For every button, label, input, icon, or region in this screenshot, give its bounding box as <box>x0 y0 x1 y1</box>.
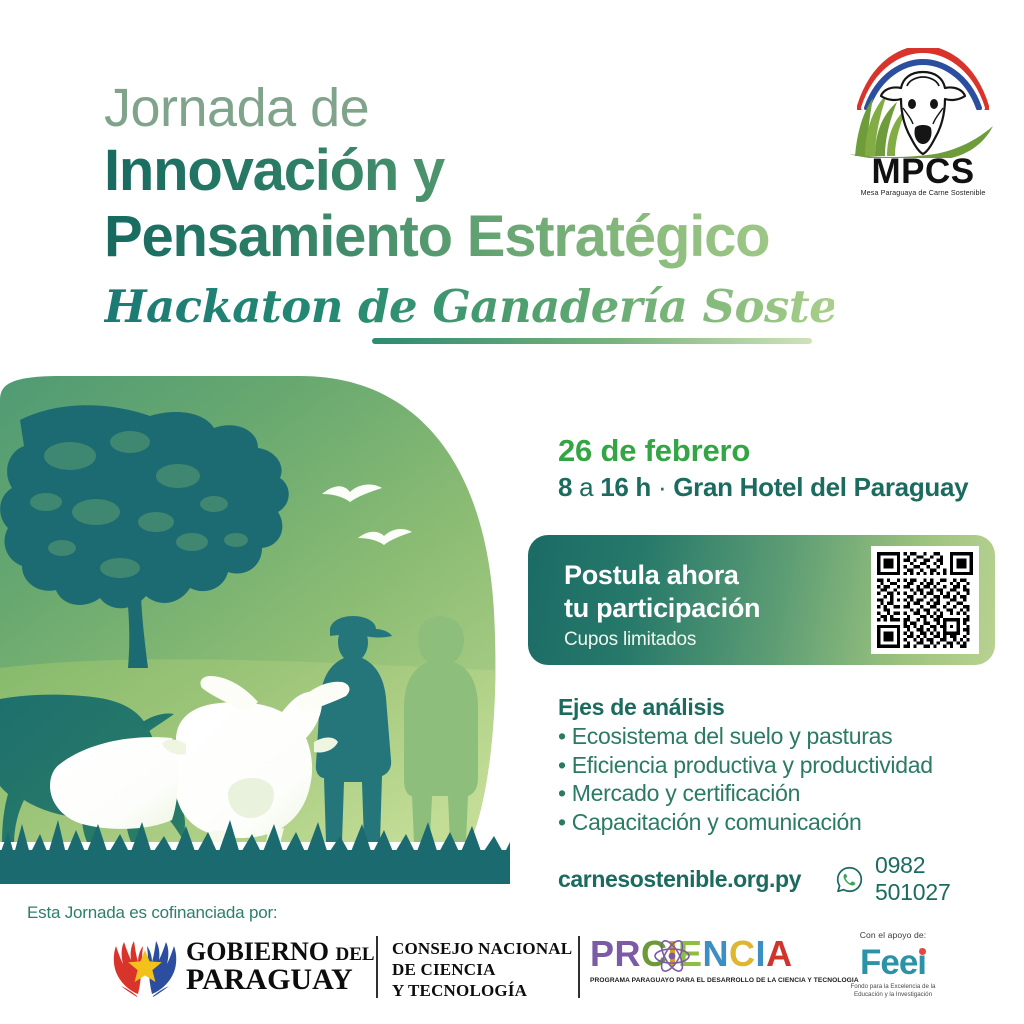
gobierno-paraguay-logo: GOBIERNO DEL PARAGUAY <box>108 934 375 1000</box>
feei-wordmark: Feei <box>838 944 948 982</box>
analysis-axes-list: •Ecosistema del suelo y pasturas •Eficie… <box>558 722 998 836</box>
conacyt-line-1: CONSEJO NACIONAL <box>392 938 572 959</box>
bullet-icon: • <box>558 752 572 778</box>
subtitle-underline <box>372 338 812 344</box>
title-block: Jornada de Innovación y Pensamiento Estr… <box>104 78 834 334</box>
event-separator: · <box>651 472 673 502</box>
contact-row: carnesostenible.org.py 0982 501027 <box>558 852 998 906</box>
cta-title-line-1: Postula ahora <box>564 559 760 592</box>
mpcs-logo: MPCS Mesa Paraguaya de Carne Sostenible <box>843 44 1003 214</box>
feei-logo: Con el apoyo de: Feei Fondo para la Exce… <box>838 930 948 999</box>
mpcs-acronym: MPCS <box>843 152 1003 192</box>
feei-support-label: Con el apoyo de: <box>838 930 948 940</box>
gobierno-main: GOBIERNO <box>186 937 329 966</box>
subtitle-emphasis: Ganadería Sostenible <box>432 280 961 333</box>
conacyt-line-2: DE CIENCIA <box>392 959 572 980</box>
list-item-label: Capacitación y comunicación <box>572 809 862 835</box>
qr-code[interactable] <box>871 546 979 654</box>
event-time-mid: a <box>572 472 600 502</box>
title-line-1: Innovación y <box>104 138 834 204</box>
gobierno-line-2: PARAGUAY <box>186 965 375 995</box>
event-time-end: 16 h <box>600 472 651 502</box>
paraguay-coat-of-arms-icon <box>108 934 182 1000</box>
conacyt-line-3: Y TECNOLOGÍA <box>392 980 572 1001</box>
list-item-label: Mercado y certificación <box>572 780 800 806</box>
list-item-label: Eficiencia productiva y productividad <box>572 752 933 778</box>
apply-cta-banner[interactable]: Postula ahora tu participación Cupos lim… <box>528 535 995 665</box>
gobierno-del: DEL <box>336 944 375 965</box>
subtitle-script: Hackaton de Ganadería Sostenible <box>104 280 834 334</box>
mpcs-tagline: Mesa Paraguaya de Carne Sostenible <box>843 188 1003 197</box>
analysis-axes-section: Ejes de análisis •Ecosistema del suelo y… <box>558 692 998 836</box>
title-kicker: Jornada de <box>104 78 834 138</box>
gobierno-line-1: GOBIERNO DEL <box>186 939 375 965</box>
bullet-icon: • <box>558 809 572 835</box>
list-item: •Capacitación y comunicación <box>558 808 998 837</box>
bullet-icon: • <box>558 780 572 806</box>
cow-head-icon <box>877 66 969 158</box>
feei-tagline-line-1: Fondo para la Excelencia de la <box>838 983 948 991</box>
event-time-start: 8 <box>558 472 572 502</box>
prociencia-logo: PRCIENCIA PROGRAMA PARAGUAYO PARA EL DES… <box>590 934 815 984</box>
bullet-icon: • <box>558 723 572 749</box>
cta-subtitle: Cupos limitados <box>564 629 696 651</box>
whatsapp-icon[interactable] <box>835 865 864 894</box>
list-item: •Eficiencia productiva y productividad <box>558 751 998 780</box>
event-date: 26 de febrero <box>558 432 998 470</box>
cofinanced-label: Esta Jornada es cofinanciada por: <box>27 903 277 923</box>
poster-root: Jornada de Innovación y Pensamiento Estr… <box>0 0 1024 1024</box>
prociencia-wordmark: PRCIENCIA <box>590 934 815 974</box>
atom-icon <box>652 936 692 976</box>
feei-mark-text: Feei <box>860 943 926 982</box>
website-link[interactable]: carnesostenible.org.py <box>558 866 801 893</box>
subtitle-plain: Hackaton de <box>104 280 432 333</box>
feei-tagline: Fondo para la Excelencia de la Educación… <box>838 983 948 999</box>
event-venue: Gran Hotel del Paraguay <box>673 472 968 502</box>
feei-tagline-line-2: Educación y la Investigación <box>838 991 948 999</box>
conacyt-logo: CONSEJO NACIONAL DE CIENCIA Y TECNOLOGÍA <box>392 938 572 1001</box>
analysis-axes-title: Ejes de análisis <box>558 692 998 722</box>
event-date-block: 26 de febrero 8 a 16 h · Gran Hotel del … <box>558 432 998 504</box>
gobierno-text: GOBIERNO DEL PARAGUAY <box>186 939 375 995</box>
sustainable-livestock-illustration <box>0 372 528 890</box>
list-item: •Mercado y certificación <box>558 779 998 808</box>
list-item: •Ecosistema del suelo y pasturas <box>558 722 998 751</box>
qr-code-image <box>877 552 973 648</box>
event-time-venue: 8 a 16 h · Gran Hotel del Paraguay <box>558 470 998 504</box>
list-item-label: Ecosistema del suelo y pasturas <box>572 723 893 749</box>
title-line-2: Pensamiento Estratégico <box>104 204 834 270</box>
footer-divider-2 <box>578 936 580 998</box>
illustration-scene <box>0 372 528 850</box>
phone-number[interactable]: 0982 501027 <box>875 852 998 906</box>
cta-title-line-2: tu participación <box>564 592 760 625</box>
prociencia-tagline: PROGRAMA PARAGUAYO PARA EL DESARROLLO DE… <box>590 977 815 984</box>
prociencia-part-1: PR <box>590 933 641 974</box>
cta-title: Postula ahora tu participación <box>564 559 760 625</box>
footer-divider-1 <box>376 936 378 998</box>
feei-dot-icon <box>919 948 926 955</box>
